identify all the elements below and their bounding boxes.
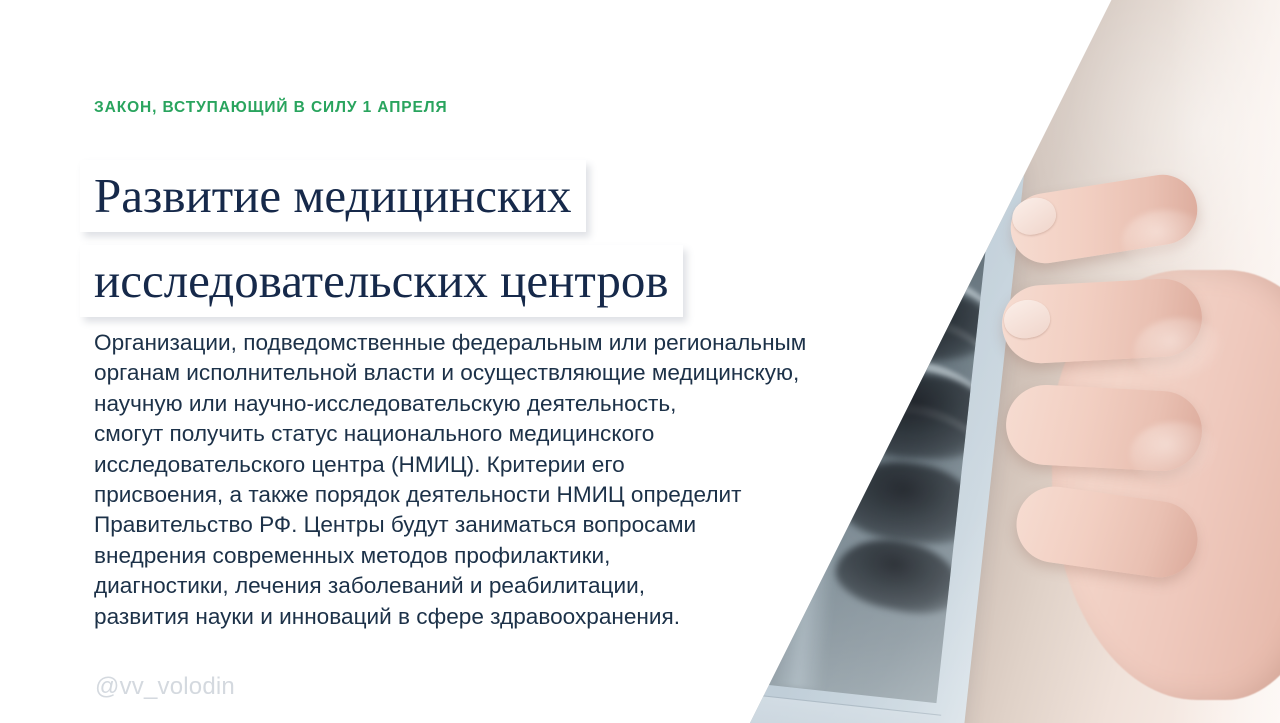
xray-clavicle-left <box>750 231 831 247</box>
xray-clavicle-right <box>848 239 972 282</box>
knuckle-highlight <box>1134 318 1226 384</box>
body-line: внедрения современных методов профилакти… <box>94 541 984 571</box>
body-text: Организации, подведомственные федеральны… <box>94 328 984 632</box>
knuckle-highlight <box>1122 210 1210 272</box>
body-line: присвоения, а также порядок деятельности… <box>94 480 984 510</box>
slide-root: ЗАКОН, ВСТУПАЮЩИЙ В СИЛУ 1 АПРЕЛЯ Развит… <box>0 0 1280 723</box>
body-line: Правительство РФ. Центры будут заниматьс… <box>94 510 984 540</box>
body-line: диагностики, лечения заболеваний и реаби… <box>94 571 984 601</box>
body-line: органам исполнительной власти и осуществ… <box>94 358 984 388</box>
eyebrow-label: ЗАКОН, ВСТУПАЮЩИЙ В СИЛУ 1 АПРЕЛЯ <box>94 99 448 117</box>
body-line: Организации, подведомственные федеральны… <box>94 328 984 358</box>
author-handle: @vv_volodin <box>95 673 235 701</box>
body-line: развития науки и инноваций в сфере здрав… <box>94 602 984 632</box>
knuckle-highlight <box>1130 422 1220 486</box>
page-title-line-2: исследовательских центров <box>80 245 683 317</box>
body-line: смогут получить статус национального мед… <box>94 419 984 449</box>
page-title-line-1: Развитие медицинских <box>80 160 586 232</box>
page-title: Развитие медицинских исследовательских ц… <box>80 160 683 317</box>
xray-film-label-strip <box>750 140 990 212</box>
hand <box>1002 150 1280 710</box>
body-line: научную или научно-исследовательскую дея… <box>94 389 984 419</box>
body-line: исследовательского центра (НМИЦ). Критер… <box>94 450 984 480</box>
